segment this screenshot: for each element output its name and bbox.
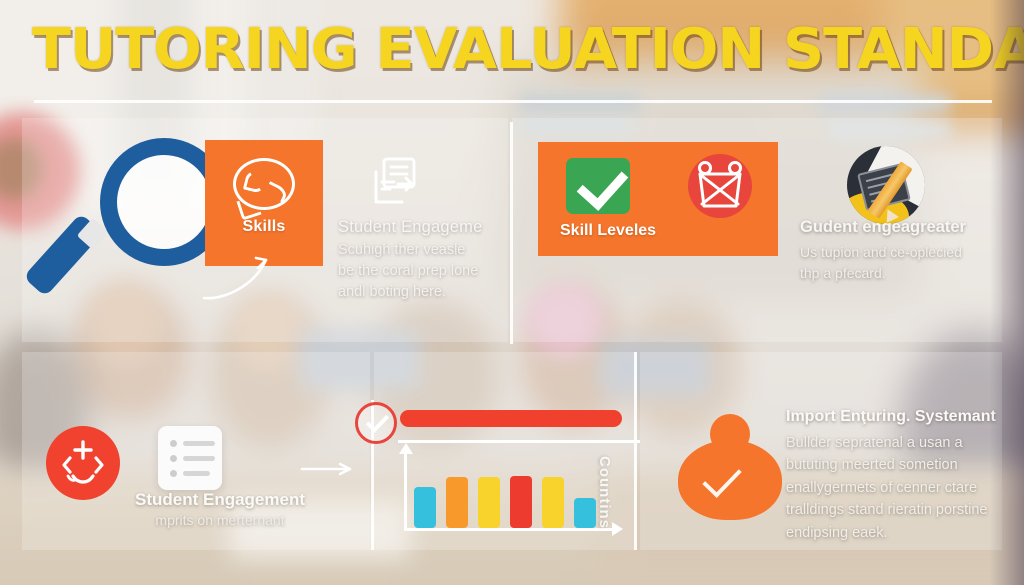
body-line: tralldings stand rieratin porstine [786,499,1002,521]
body-line: Us tupion and ce-oplecied [800,242,1000,263]
chart-bar [478,477,500,528]
document-share-icon [368,156,422,208]
speech-bubble-icon [233,158,295,210]
bar-chart: Countins [400,452,632,542]
title-divider [34,100,992,103]
body-line: Scuhigh ther veasle [338,240,506,261]
bottom-right-body: Bullder sepratenal a usan a bututing mee… [786,432,1002,544]
body-line: Bullder sepratenal a usan a [786,432,1002,454]
arrow-right-icon [300,462,356,476]
infographic-canvas: TUTORING EVALUATION STANDARDS Skills [0,0,1024,585]
chart-bar [414,487,436,528]
red-circle-x-icon [688,154,752,218]
top-left-body: Scuhigh ther veasle be the coral prep lo… [338,240,506,303]
progress-bar [400,410,622,427]
bottom-left-subtext: mprits on merternant [95,512,345,528]
chart-y-axis-label: Countins [596,456,613,529]
chart-y-axis [404,452,407,530]
body-line: bututing meerted sometion [786,454,1002,476]
circle-check-icon [355,402,397,444]
body-line: be the coral prep lone [338,261,506,282]
top-left-heading: Student Engageme [338,218,518,237]
person-check-icon [676,414,784,522]
page-title: TUTORING EVALUATION STANDARDS [32,22,1023,78]
bottom-right-heading: Import Enţuring. Systemant [786,408,1016,426]
body-line: endipsing eaek. [786,522,1002,544]
chart-bar [510,476,532,528]
pencil-notebook-circle-icon [847,146,925,224]
top-right-body: Us tupion and ce-oplecied thp a pfecard. [800,242,1000,284]
body-line: andl boting here. [338,282,506,303]
skills-tile[interactable]: Skills [205,140,323,266]
chart-bar [446,477,468,528]
green-check-tile-icon [566,158,630,214]
top-right-heading: Gudent engeagreater [800,218,1020,237]
skills-tile-label: Skills [205,218,323,236]
chart-bar [574,498,596,528]
curved-arrow-icon [200,252,276,302]
body-line: thp a pfecard. [800,263,1000,284]
skill-levels-banner[interactable]: Skill Leveles [538,142,778,256]
right-vignette [990,0,1024,585]
body-line: enallygermets of cenner ctare [786,477,1002,499]
chart-top-rule [398,440,640,443]
red-circle-face-icon [46,426,120,500]
skill-levels-label: Skill Leveles [560,222,656,240]
bottom-left-heading: Student Engagement [95,490,345,510]
chart-bar [542,477,564,528]
checklist-card-icon [158,426,222,490]
vertical-divider-bottom-right [634,352,637,550]
chart-x-axis [404,528,616,531]
